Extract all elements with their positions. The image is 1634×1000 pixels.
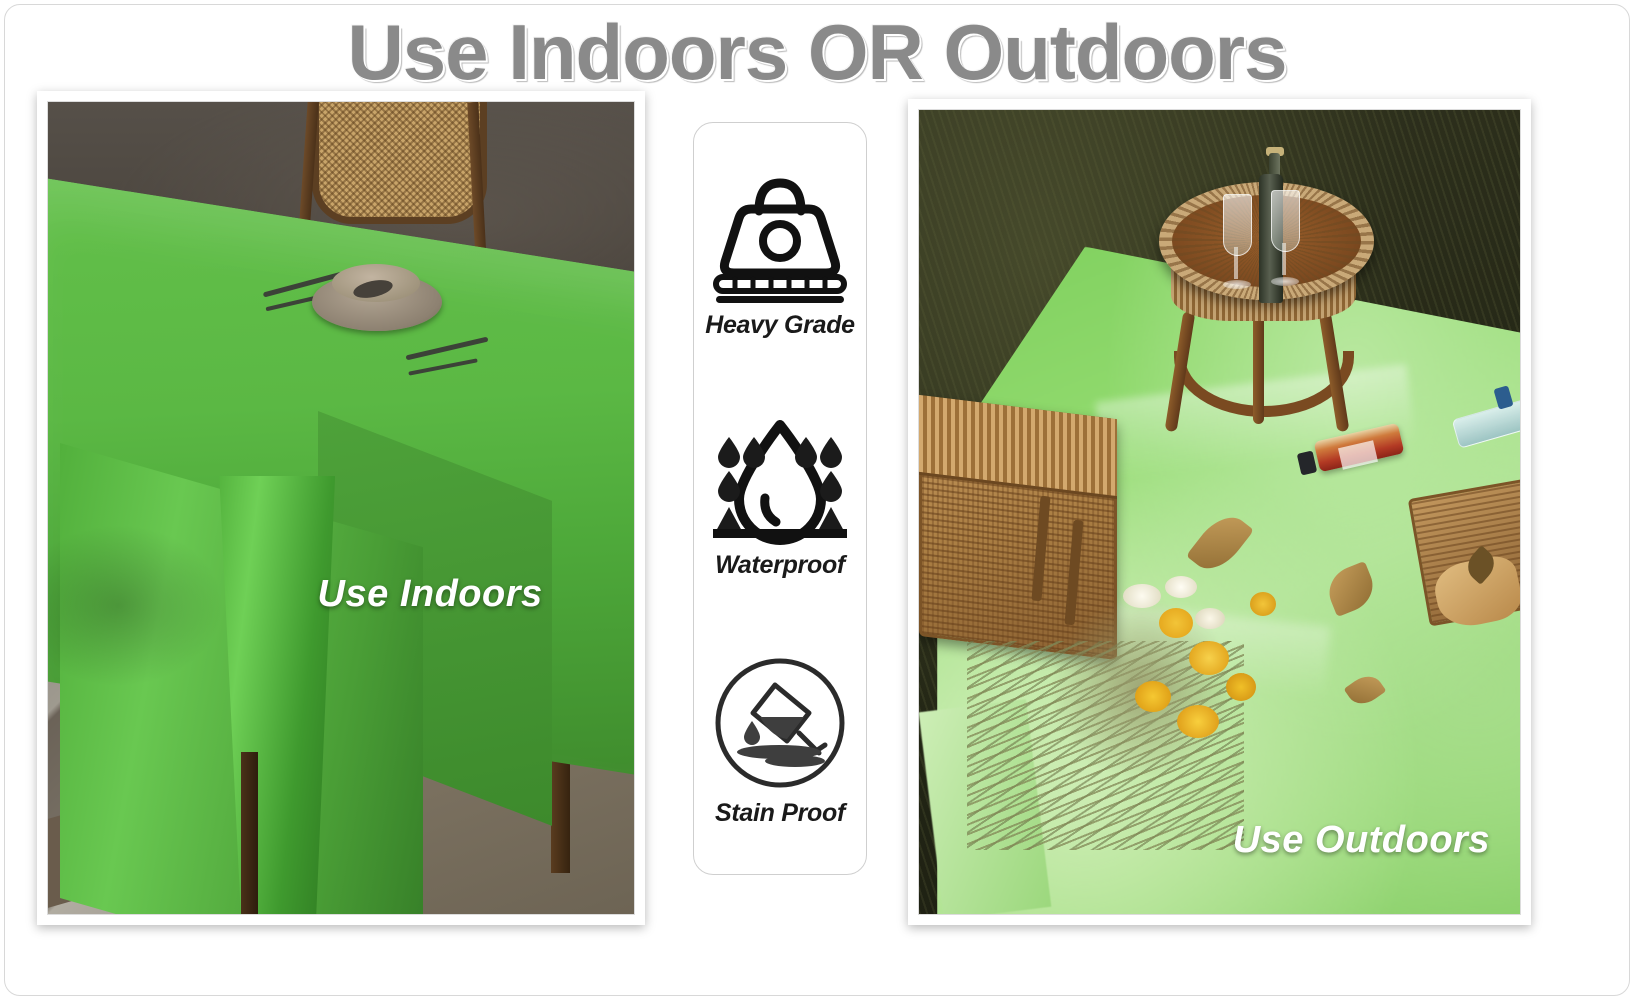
page-title: Use Indoors OR Outdoors (5, 13, 1629, 93)
yellow-flower-6 (1250, 592, 1276, 616)
infographic-page: Use Indoors OR Outdoors (4, 4, 1630, 996)
wicker-table-leg-middle (1253, 311, 1264, 424)
wine-glass-left (1223, 194, 1252, 256)
yellow-flower-5 (1226, 673, 1256, 701)
weight-icon (707, 173, 853, 305)
table-leg-front (241, 752, 258, 914)
outdoor-photo: Use Outdoors (918, 109, 1521, 915)
indoor-caption: Use Indoors (318, 573, 543, 616)
feature-label-waterproof: Waterproof (715, 551, 845, 580)
outdoor-caption: Use Outdoors (1233, 819, 1490, 862)
feature-label-stain-proof: Stain Proof (715, 799, 845, 828)
tablecloth-shadow (48, 524, 224, 686)
feature-card: Heavy Grade Waterproof (693, 122, 867, 875)
feature-label-heavy-grade: Heavy Grade (705, 311, 855, 340)
outdoor-photo-frame: Use Outdoors (908, 99, 1531, 925)
yellow-flower-3 (1135, 681, 1171, 712)
feature-heavy-grade: Heavy Grade (705, 173, 855, 340)
wine-glass-right (1271, 190, 1300, 252)
yellow-flower-2 (1189, 641, 1229, 675)
indoor-photo-frame: Use Indoors (37, 91, 645, 925)
feature-waterproof: Waterproof (707, 413, 853, 580)
water-drop-icon (707, 413, 853, 545)
indoor-photo: Use Indoors (47, 101, 635, 915)
feature-stain-proof: Stain Proof (707, 653, 853, 828)
wine-spill-icon (707, 653, 853, 793)
cane-chair-back (312, 101, 488, 224)
